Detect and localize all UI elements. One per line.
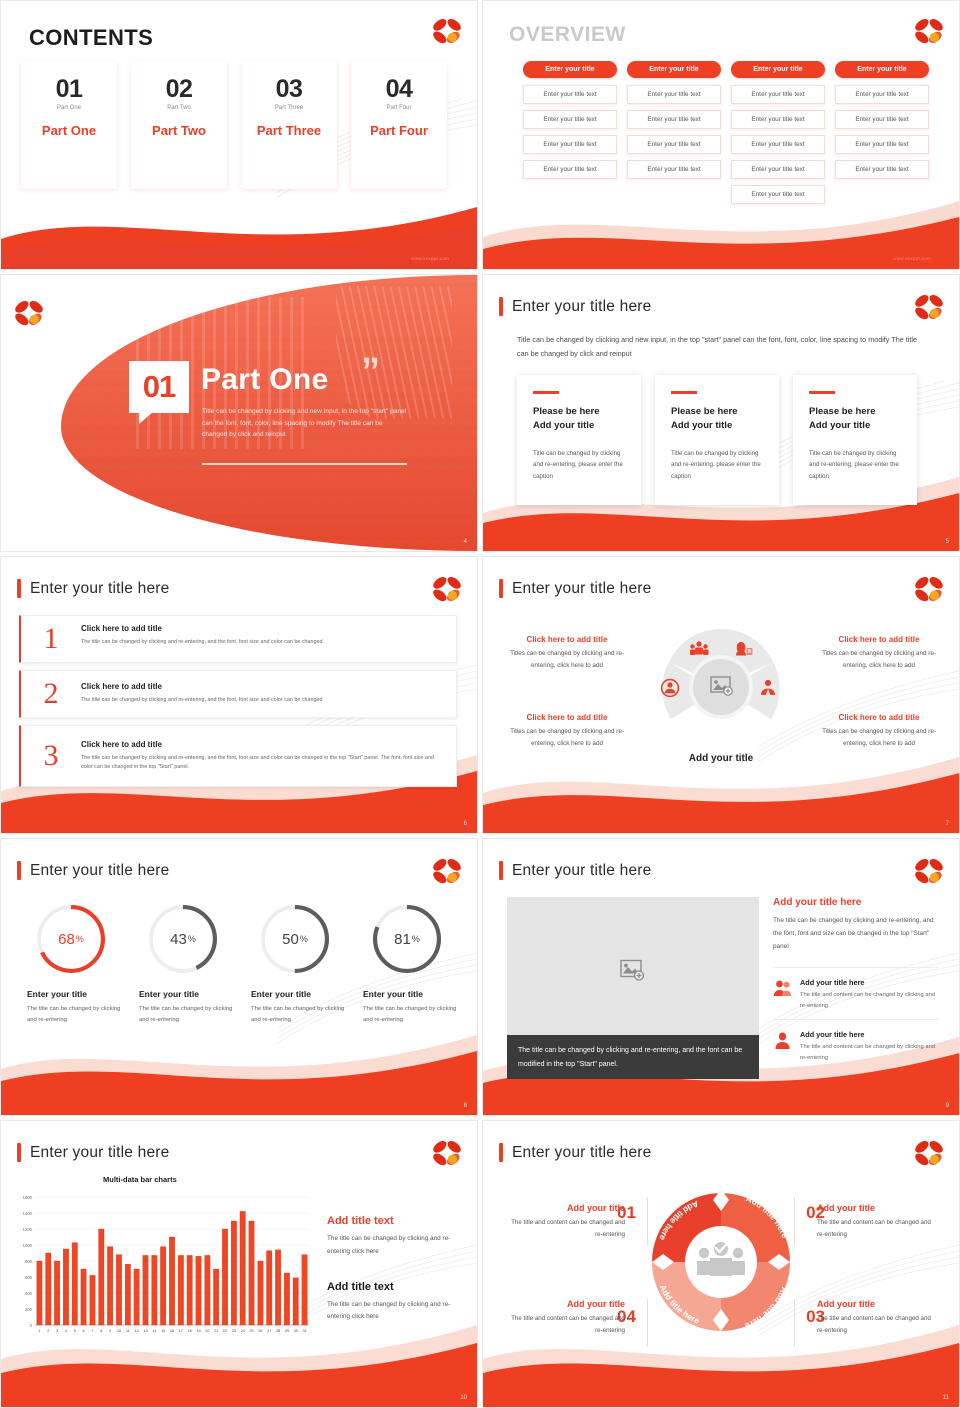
card-subtitle: Part Three <box>241 105 337 111</box>
svg-text:6: 6 <box>83 1329 85 1333</box>
card-subtitle: Part Four <box>351 105 447 111</box>
list-item[interactable]: 2 Click here to add title The title can … <box>19 670 457 718</box>
overview-columns: Enter your title Enter your title text E… <box>523 61 929 210</box>
cycle-text-02[interactable]: Add your title The title and content can… <box>817 1203 937 1241</box>
overview-column: Enter your title Enter your title text E… <box>523 61 617 210</box>
overview-item[interactable]: Enter your title text <box>627 110 721 129</box>
bar <box>116 1255 121 1325</box>
card-heading-line1: Please be here <box>533 406 600 417</box>
bar <box>258 1261 263 1325</box>
svg-text:1600: 1600 <box>23 1195 33 1200</box>
page-header: Enter your title here <box>17 579 169 598</box>
title-accent-bar <box>499 579 503 598</box>
slide-deck: CONTENTS 01 Part One Part One 02 Part Tw… <box>0 0 960 1408</box>
item-body: The title and content can be changed by … <box>800 1042 939 1063</box>
brand-logo-icon <box>911 855 947 889</box>
item-title: Add your title here <box>800 978 939 987</box>
svg-text:12: 12 <box>135 1329 139 1333</box>
bar <box>240 1211 245 1325</box>
donut-value: 43 <box>170 931 187 948</box>
block-heading: Click here to add title <box>815 713 943 722</box>
svg-text:18: 18 <box>188 1329 192 1333</box>
page-header: Enter your title here <box>17 1143 169 1162</box>
svg-text:400: 400 <box>25 1291 33 1296</box>
donut-chart: 81% <box>369 901 445 977</box>
card-number: 02 <box>131 77 227 102</box>
card-heading-line1: Please be here <box>809 406 876 417</box>
bar <box>187 1255 192 1325</box>
svg-text:13: 13 <box>143 1329 147 1333</box>
chart-title: Multi-data bar charts <box>103 1175 177 1184</box>
overview-item[interactable]: Enter your title text <box>835 135 929 154</box>
donut-desc: The title can be changed by clicking and… <box>361 1004 465 1026</box>
donut-unit: % <box>300 934 308 944</box>
donut-title: Enter your title <box>249 989 353 999</box>
text-body-primary: The title can be changed by clicking and… <box>327 1233 465 1259</box>
item-title: Click here to add title <box>81 624 440 633</box>
contents-card[interactable]: 02 Part Two Part Two <box>131 61 227 189</box>
svg-text:0: 0 <box>30 1323 33 1328</box>
bar <box>275 1250 280 1325</box>
hub-text-block-top-right[interactable]: Click here to add title Titles can be ch… <box>815 635 943 671</box>
card-label: Part Three <box>241 123 337 138</box>
page-number: 4 <box>464 539 467 545</box>
list-item[interactable]: Add your title here The title and conten… <box>773 967 939 1019</box>
watermark: www.xxxppt.com <box>411 256 449 261</box>
donut-unit: % <box>76 934 84 944</box>
info-card[interactable]: Please be here Add your title Title can … <box>517 375 641 505</box>
bar <box>196 1256 201 1325</box>
donut-desc: The title can be changed by clicking and… <box>249 1004 353 1026</box>
contents-card[interactable]: 04 Part Four Part Four <box>351 61 447 189</box>
card-label: Part Two <box>131 123 227 138</box>
section-number: 01 <box>143 369 175 405</box>
overview-item[interactable]: Enter your title text <box>627 85 721 104</box>
card-label: Part Four <box>351 123 447 138</box>
bar <box>302 1255 307 1325</box>
donut-chart: 43% <box>145 901 221 977</box>
slide-bar-chart: Enter your title here Multi-data bar cha… <box>0 1120 478 1408</box>
bar <box>63 1249 68 1325</box>
card-list: Please be here Add your title Title can … <box>517 375 917 505</box>
divider <box>647 1197 648 1245</box>
svg-text:9: 9 <box>109 1329 111 1333</box>
divider <box>647 1299 648 1347</box>
donut-value-wrap: 68% <box>33 901 109 977</box>
slide-image-text: Enter your title here The title can <box>482 838 960 1116</box>
overview-item[interactable]: Enter your title text <box>731 160 825 179</box>
overview-item[interactable]: Enter your title text <box>627 135 721 154</box>
page-header: Enter your title here <box>499 579 651 598</box>
overview-item[interactable]: Enter your title text <box>731 85 825 104</box>
brand-logo-icon <box>11 297 47 331</box>
bar <box>81 1269 86 1325</box>
hub-diagram <box>647 621 795 751</box>
donut-title: Enter your title <box>361 989 465 999</box>
slide-numbered-list: Enter your title here 1 Click here to ad… <box>0 556 478 834</box>
block-body: Titles can be changed by clicking and re… <box>815 726 943 749</box>
svg-text:31: 31 <box>302 1329 306 1333</box>
list-item[interactable]: Add your title here The title and conten… <box>773 1019 939 1071</box>
hub-text-block-top-left[interactable]: Click here to add title Titles can be ch… <box>503 635 631 671</box>
divider-rule <box>202 463 407 465</box>
svg-text:19: 19 <box>196 1329 200 1333</box>
svg-text:26: 26 <box>258 1329 262 1333</box>
brand-logo-icon <box>911 1137 947 1171</box>
page-title: OVERVIEW <box>509 23 626 47</box>
donut-desc: The title can be changed by clicking and… <box>137 1004 241 1026</box>
section-body-text: Title can be changed by clicking and new… <box>202 406 407 441</box>
info-card[interactable]: Please be here Add your title Title can … <box>793 375 917 505</box>
text-column: Add your title here The title can be cha… <box>773 897 939 1071</box>
svg-text:17: 17 <box>179 1329 183 1333</box>
bar <box>46 1253 51 1325</box>
text-heading-secondary: Add title text <box>327 1281 465 1293</box>
page-header: Enter your title here <box>499 861 651 880</box>
card-number: 04 <box>351 77 447 102</box>
overview-item[interactable]: Enter your title text <box>523 160 617 179</box>
page-title: Enter your title here <box>512 580 651 598</box>
info-card[interactable]: Please be here Add your title Title can … <box>655 375 779 505</box>
bar <box>213 1269 218 1325</box>
block-heading: Add your title <box>817 1203 937 1213</box>
contents-card[interactable]: 01 Part One Part One <box>21 61 117 189</box>
donut-stat[interactable]: 68% Enter your title The title can be ch… <box>25 901 129 1026</box>
donut-value: 50 <box>282 931 299 948</box>
svg-text:29: 29 <box>285 1329 289 1333</box>
svg-text:22: 22 <box>223 1329 227 1333</box>
card-subtitle: Part Two <box>131 105 227 111</box>
bar <box>90 1275 95 1325</box>
block-heading: Click here to add title <box>503 713 631 722</box>
cycle-text-01[interactable]: Add your title The title and content can… <box>505 1203 625 1241</box>
cycle-text-04[interactable]: Add your title The title and content can… <box>505 1299 625 1337</box>
item-description: The title can be changed by clicking and… <box>81 638 440 647</box>
overview-column: Enter your title Enter your title text E… <box>835 61 929 210</box>
slide-overview: OVERVIEW Enter your title Enter your tit… <box>482 0 960 270</box>
column-title-pill[interactable]: Enter your title <box>523 61 617 78</box>
bar <box>169 1237 174 1325</box>
svg-text:3: 3 <box>56 1329 58 1333</box>
overview-item[interactable]: Enter your title text <box>627 160 721 179</box>
chart-plot-area: 0200400600800100012001400160012345678910… <box>13 1193 313 1339</box>
block-body: The title and content can be changed and… <box>817 1313 937 1337</box>
page-title: CONTENTS <box>29 25 153 51</box>
numbered-row-list: 1 Click here to add title The title can … <box>19 615 457 794</box>
title-accent-bar <box>17 861 21 880</box>
item-title: Click here to add title <box>81 740 440 749</box>
block-body: The title and content can be changed and… <box>817 1217 937 1241</box>
quote-mark-icon: ” <box>361 359 380 386</box>
page-title: Enter your title here <box>30 1144 169 1162</box>
text-heading-primary: Add title text <box>327 1215 465 1227</box>
image-caption: The title can be changed by clicking and… <box>507 1035 759 1079</box>
page-number: 11 <box>943 1395 949 1401</box>
donut-value-wrap: 81% <box>369 901 445 977</box>
bar <box>205 1255 210 1325</box>
column-body: The title can be changed by clicking and… <box>773 915 939 953</box>
page-number: 8 <box>464 1103 467 1109</box>
bar <box>54 1261 59 1325</box>
item-body: The title and content can be changed by … <box>800 990 939 1011</box>
svg-text:15: 15 <box>161 1329 165 1333</box>
single-person-icon <box>773 1030 792 1055</box>
overview-item[interactable]: Enter your title text <box>731 135 825 154</box>
brand-logo-icon <box>429 573 465 607</box>
brand-logo-icon <box>911 291 947 325</box>
item-number: 3 <box>21 741 81 771</box>
bar-chart: Multi-data bar charts 020040060080010001… <box>13 1179 313 1349</box>
bar <box>107 1247 112 1325</box>
svg-text:4: 4 <box>65 1329 67 1333</box>
overview-column: Enter your title Enter your title text E… <box>627 61 721 210</box>
card-heading: Please be here Add your title <box>533 405 625 434</box>
card-number: 03 <box>241 77 337 102</box>
column-title-pill[interactable]: Enter your title <box>731 61 825 78</box>
title-accent-bar <box>17 1143 21 1162</box>
column-title-pill[interactable]: Enter your title <box>835 61 929 78</box>
section-heading: Part One <box>201 363 328 397</box>
block-heading: Add your title <box>817 1299 937 1309</box>
svg-text:1000: 1000 <box>23 1243 33 1248</box>
slide-donut-stats: Enter your title here 68% <box>0 838 478 1116</box>
contents-card-list: 01 Part One Part One 02 Part Two Part Tw… <box>21 61 447 189</box>
item-title: Add your title here <box>800 1030 939 1039</box>
slide-section-part-one: 01 Part One ” Title can be changed by cl… <box>0 274 478 552</box>
donut-chart: 68% <box>33 901 109 977</box>
svg-text:800: 800 <box>25 1259 33 1264</box>
block-body: Titles can be changed by clicking and re… <box>815 648 943 671</box>
svg-text:8: 8 <box>100 1329 102 1333</box>
card-number: 01 <box>21 77 117 102</box>
brand-logo-icon <box>911 573 947 607</box>
block-body: The title and content can be changed and… <box>505 1217 625 1241</box>
cycle-text-03[interactable]: Add your title The title and content can… <box>817 1299 937 1337</box>
donut-desc: The title can be changed by clicking and… <box>25 1004 129 1026</box>
block-body: Titles can be changed by clicking and re… <box>503 726 631 749</box>
two-people-icon <box>773 978 792 1003</box>
svg-text:1200: 1200 <box>23 1227 33 1232</box>
text-body-secondary: The title can be changed by clicking and… <box>327 1299 465 1325</box>
block-heading: Add your title <box>505 1299 625 1309</box>
divider <box>794 1299 795 1347</box>
card-accent-dash <box>671 391 697 394</box>
card-heading: Please be here Add your title <box>671 405 763 434</box>
donut-value-wrap: 50% <box>257 901 333 977</box>
bar <box>152 1255 157 1325</box>
brand-logo-icon <box>429 15 465 49</box>
cycle-diagram: Add title here Add title here Add title … <box>642 1183 800 1341</box>
section-number-badge: 01 <box>129 361 189 413</box>
page-title: Enter your title here <box>30 862 169 880</box>
page-number: 9 <box>946 1103 949 1109</box>
svg-text:10: 10 <box>117 1329 121 1333</box>
bar <box>284 1273 289 1325</box>
page-title: Enter your title here <box>30 580 169 598</box>
page-title: Enter your title here <box>512 862 651 880</box>
donut-value: 81 <box>394 931 411 948</box>
hub-caption: Add your title <box>689 753 753 764</box>
title-accent-bar <box>499 861 503 880</box>
hub-text-block-bottom-right[interactable]: Click here to add title Titles can be ch… <box>815 713 943 749</box>
svg-text:27: 27 <box>267 1329 271 1333</box>
page-number: 7 <box>946 821 949 827</box>
page-number: 6 <box>464 821 467 827</box>
card-label: Part One <box>21 123 117 138</box>
card-body: Title can be changed by clicking and re-… <box>671 448 763 482</box>
image-placeholder-icon <box>620 960 646 987</box>
bar <box>222 1229 227 1325</box>
svg-text:23: 23 <box>232 1329 236 1333</box>
brand-logo-icon <box>429 1137 465 1171</box>
donut-title: Enter your title <box>137 989 241 999</box>
svg-text:600: 600 <box>25 1275 33 1280</box>
svg-text:16: 16 <box>170 1329 174 1333</box>
item-number: 2 <box>21 679 81 709</box>
card-accent-dash <box>533 391 559 394</box>
svg-text:25: 25 <box>249 1329 253 1333</box>
slide-cycle-diagram: Enter your title here <box>482 1120 960 1408</box>
item-title: Click here to add title <box>81 682 440 691</box>
card-body: Title can be changed by clicking and re-… <box>809 448 901 482</box>
svg-text:2: 2 <box>47 1329 49 1333</box>
bar <box>249 1221 254 1325</box>
svg-text:28: 28 <box>276 1329 280 1333</box>
donut-stat[interactable]: 81% Enter your title The title can be ch… <box>361 901 465 1026</box>
bar <box>134 1269 139 1325</box>
slide-contents: CONTENTS 01 Part One Part One 02 Part Tw… <box>0 0 478 270</box>
bar <box>99 1229 104 1325</box>
donut-stat[interactable]: 50% Enter your title The title can be ch… <box>249 901 353 1026</box>
page-header: Enter your title here <box>17 861 169 880</box>
page-title: Enter your title here <box>512 298 651 316</box>
svg-text:14: 14 <box>152 1329 156 1333</box>
chart-text-column: Add title text The title can be changed … <box>327 1215 465 1324</box>
block-body: The title and content can be changed and… <box>505 1313 625 1337</box>
overview-column: Enter your title Enter your title text E… <box>731 61 825 210</box>
item-description: The title can be changed by clicking and… <box>81 754 440 773</box>
card-heading-line2: Add your title <box>671 420 732 431</box>
overview-item[interactable]: Enter your title text <box>523 110 617 129</box>
page-number: 5 <box>946 539 949 545</box>
bar <box>72 1243 77 1325</box>
intro-paragraph: Title can be changed by clicking and new… <box>517 333 917 362</box>
bar <box>37 1261 42 1325</box>
overview-item[interactable]: Enter your title text <box>523 135 617 154</box>
page-number: 10 <box>460 1395 467 1401</box>
hub-text-block-bottom-left[interactable]: Click here to add title Titles can be ch… <box>503 713 631 749</box>
item-description: The title can be changed by clicking and… <box>81 696 440 705</box>
card-accent-dash <box>809 391 835 394</box>
overview-item[interactable]: Enter your title text <box>835 110 929 129</box>
bar <box>293 1278 298 1325</box>
watermark: www.xxxppt.com <box>893 256 931 261</box>
title-accent-bar <box>499 297 503 316</box>
svg-text:21: 21 <box>214 1329 218 1333</box>
column-heading: Add your title here <box>773 897 939 908</box>
card-heading-line1: Please be here <box>671 406 738 417</box>
image-placeholder[interactable]: The title can be changed by clicking and… <box>507 897 759 1079</box>
overview-item[interactable]: Enter your title text <box>731 110 825 129</box>
brand-logo-icon <box>911 15 947 49</box>
svg-text:20: 20 <box>205 1329 209 1333</box>
overview-item[interactable]: Enter your title text <box>835 85 929 104</box>
block-heading: Click here to add title <box>815 635 943 644</box>
bar <box>231 1221 236 1325</box>
card-heading-line2: Add your title <box>533 420 594 431</box>
svg-text:30: 30 <box>294 1329 298 1333</box>
svg-text:1: 1 <box>38 1329 40 1333</box>
bar <box>125 1264 130 1325</box>
donut-stat-list: 68% Enter your title The title can be ch… <box>25 901 465 1026</box>
contents-card[interactable]: 03 Part Three Part Three <box>241 61 337 189</box>
donut-stat[interactable]: 43% Enter your title The title can be ch… <box>137 901 241 1026</box>
donut-value-wrap: 43% <box>145 901 221 977</box>
donut-unit: % <box>188 934 196 944</box>
title-accent-bar <box>499 1143 503 1162</box>
page-header: Enter your title here <box>499 1143 651 1162</box>
slide-three-cards: Enter your title here Title can be chang… <box>482 274 960 552</box>
svg-text:1400: 1400 <box>23 1211 33 1216</box>
bar <box>266 1251 271 1325</box>
decorative-wave <box>1 177 477 269</box>
card-heading-line2: Add your title <box>809 420 870 431</box>
card-body: Title can be changed by clicking and re-… <box>533 448 625 482</box>
block-heading: Click here to add title <box>503 635 631 644</box>
page-header: Enter your title here <box>499 297 651 316</box>
overview-item[interactable]: Enter your title text <box>731 185 825 204</box>
list-item[interactable]: 3 Click here to add title The title can … <box>19 725 457 787</box>
svg-text:24: 24 <box>241 1329 245 1333</box>
card-heading: Please be here Add your title <box>809 405 901 434</box>
divider <box>794 1197 795 1245</box>
overview-item[interactable]: Enter your title text <box>835 160 929 179</box>
svg-text:11: 11 <box>126 1329 130 1333</box>
decorative-wave <box>1 1023 477 1115</box>
block-heading: Add your title <box>505 1203 625 1213</box>
donut-value: 68 <box>58 931 75 948</box>
donut-unit: % <box>412 934 420 944</box>
title-accent-bar <box>17 579 21 598</box>
overview-item[interactable]: Enter your title text <box>523 85 617 104</box>
brand-logo-icon <box>429 855 465 889</box>
column-title-pill[interactable]: Enter your title <box>627 61 721 78</box>
svg-text:200: 200 <box>25 1307 33 1312</box>
svg-text:7: 7 <box>91 1329 93 1333</box>
card-subtitle: Part One <box>21 105 117 111</box>
list-item[interactable]: 1 Click here to add title The title can … <box>19 615 457 663</box>
bar <box>160 1247 165 1325</box>
slide-hub-diagram: Enter your title here <box>482 556 960 834</box>
bar <box>143 1255 148 1325</box>
block-body: Titles can be changed by clicking and re… <box>503 648 631 671</box>
item-number: 1 <box>21 624 81 654</box>
donut-chart: 50% <box>257 901 333 977</box>
bar <box>178 1255 183 1325</box>
svg-text:5: 5 <box>74 1329 76 1333</box>
page-title: Enter your title here <box>512 1144 651 1162</box>
donut-title: Enter your title <box>25 989 129 999</box>
